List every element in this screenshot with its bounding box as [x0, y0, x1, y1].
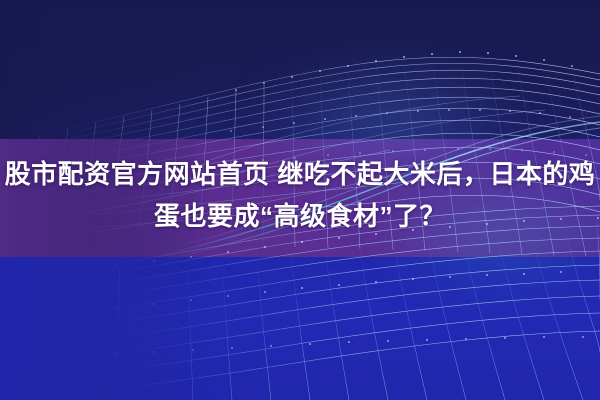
background-blue-bottom: [0, 257, 600, 400]
headline-text: 股市配资官方网站首页 继吃不起大米后，日本的鸡 蛋也要成“高级食材”了？: [0, 153, 600, 237]
headline-line-2: 蛋也要成“高级食材”了？: [0, 195, 600, 237]
background-navy-top: [0, 0, 600, 142]
headline-line-1: 股市配资官方网站首页 继吃不起大米后，日本的鸡: [0, 153, 600, 195]
banner-image: 股市配资官方网站首页 继吃不起大米后，日本的鸡 蛋也要成“高级食材”了？: [0, 0, 600, 400]
